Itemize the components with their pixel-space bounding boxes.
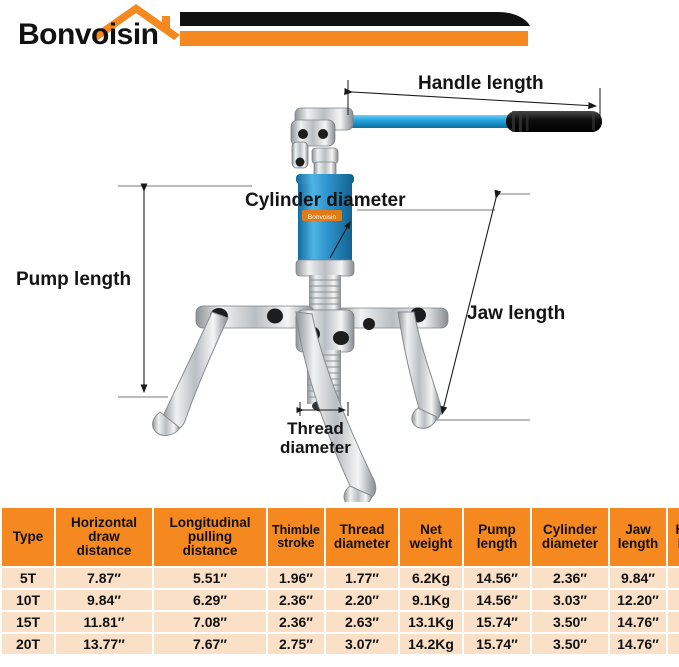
cell-horizontal-draw-distance: 9.84″: [56, 590, 152, 610]
table-row: 15T 11.81″ 7.08″ 2.36″ 2.63″ 13.1Kg 15.7…: [2, 612, 679, 632]
annotation-handle-length: Handle length: [418, 73, 544, 94]
cell-horizontal-draw-distance: 13.77″: [56, 634, 152, 654]
annotation-thread-diameter-line1: Thread: [280, 419, 351, 438]
column-header-net-weight: Net weight: [400, 508, 462, 566]
cell-handle-length: 15.7″: [668, 634, 679, 654]
table-row: 20T 13.77″ 7.67″ 2.75″ 3.07″ 14.2Kg 15.7…: [2, 634, 679, 654]
cell-type: 20T: [2, 634, 54, 654]
cell-handle-length: 15.7″: [668, 568, 679, 588]
header-line1: Net: [420, 522, 442, 537]
annotation-jaw-length: Jaw length: [467, 303, 565, 324]
table-row: 10T 9.84″ 6.29″ 2.36″ 2.20″ 9.1Kg 14.56″…: [2, 590, 679, 610]
column-header-handle-length: Handle length: [668, 508, 679, 566]
cell-thread-diameter: 1.77″: [326, 568, 398, 588]
cell-longitudinal-pulling-distance: 7.08″: [154, 612, 266, 632]
header-line1: Thread: [339, 522, 384, 537]
column-header-pump-length: Pump length: [464, 508, 530, 566]
header-line1: Horizontal: [71, 515, 137, 530]
header-line1: Longitudinal: [170, 515, 251, 530]
cell-jaw-length: 14.76″: [610, 612, 666, 632]
cell-thread-diameter: 2.63″: [326, 612, 398, 632]
cell-pump-length: 14.56″: [464, 568, 530, 588]
header-line1: Pump: [478, 522, 516, 537]
table-row: 5T 7.87″ 5.51″ 1.96″ 1.77″ 6.2Kg 14.56″ …: [2, 568, 679, 588]
cell-thread-diameter: 3.07″: [326, 634, 398, 654]
cell-longitudinal-pulling-distance: 7.67″: [154, 634, 266, 654]
cell-handle-length: 15.7″: [668, 612, 679, 632]
header-line2: length: [477, 536, 518, 551]
cell-longitudinal-pulling-distance: 6.29″: [154, 590, 266, 610]
table-header-row: Type Horizontal draw distance Longitudin…: [2, 508, 679, 566]
column-header-type: Type: [2, 508, 54, 566]
header-line1: Thimble: [272, 523, 320, 537]
header-line3: distance: [77, 543, 132, 558]
cell-horizontal-draw-distance: 11.81″: [56, 612, 152, 632]
product-figure: Bonvoisin: [0, 62, 679, 502]
brand-logo: Bonvoisin: [0, 0, 679, 62]
annotation-thread-diameter-line2: diameter: [280, 438, 351, 457]
cell-thimble-stroke: 1.96″: [268, 568, 324, 588]
cell-thimble-stroke: 2.36″: [268, 612, 324, 632]
header-line2: diameter: [542, 536, 598, 551]
header-line2: pulling: [188, 529, 232, 544]
cell-thimble-stroke: 2.36″: [268, 590, 324, 610]
column-header-jaw-length: Jaw length: [610, 508, 666, 566]
cell-type: 15T: [2, 612, 54, 632]
annotation-cylinder-diameter: Cylinder diameter: [245, 190, 406, 211]
cell-cylinder-diameter: 2.36″: [532, 568, 608, 588]
header-line2: stroke: [277, 536, 315, 550]
annotation-pump-length: Pump length: [16, 269, 131, 290]
cell-net-weight: 13.1Kg: [400, 612, 462, 632]
cell-horizontal-draw-distance: 7.87″: [56, 568, 152, 588]
header-line1: Type: [13, 529, 44, 544]
swoosh-icon: [178, 10, 538, 52]
cell-handle-length: 15.7″: [668, 590, 679, 610]
cell-net-weight: 14.2Kg: [400, 634, 462, 654]
column-header-thimble-stroke: Thimble stroke: [268, 508, 324, 566]
header-line3: distance: [183, 543, 238, 558]
header-line1: Cylinder: [543, 522, 597, 537]
cell-jaw-length: 12.20″: [610, 590, 666, 610]
cell-cylinder-diameter: 3.50″: [532, 612, 608, 632]
header-line1: Jaw: [625, 522, 651, 537]
cell-thimble-stroke: 2.75″: [268, 634, 324, 654]
annotation-thread-diameter: Thread diameter: [280, 419, 351, 457]
brand-name: Bonvoisin: [18, 18, 159, 52]
column-header-horizontal-draw-distance: Horizontal draw distance: [56, 508, 152, 566]
header-line2: draw: [88, 529, 120, 544]
cell-pump-length: 15.74″: [464, 634, 530, 654]
cell-net-weight: 9.1Kg: [400, 590, 462, 610]
column-header-cylinder-diameter: Cylinder diameter: [532, 508, 608, 566]
cell-jaw-length: 14.76″: [610, 634, 666, 654]
cell-cylinder-diameter: 3.50″: [532, 634, 608, 654]
cell-pump-length: 15.74″: [464, 612, 530, 632]
header-line1: Handle: [675, 522, 679, 537]
header-line2: diameter: [334, 536, 390, 551]
cell-jaw-length: 9.84″: [610, 568, 666, 588]
cell-type: 10T: [2, 590, 54, 610]
column-header-longitudinal-pulling-distance: Longitudinal pulling distance: [154, 508, 266, 566]
cell-type: 5T: [2, 568, 54, 588]
cell-thread-diameter: 2.20″: [326, 590, 398, 610]
cell-pump-length: 14.56″: [464, 590, 530, 610]
cell-longitudinal-pulling-distance: 5.51″: [154, 568, 266, 588]
header-line2: length: [618, 536, 659, 551]
svg-text:Bonvoisin: Bonvoisin: [308, 214, 337, 221]
cell-cylinder-diameter: 3.03″: [532, 590, 608, 610]
column-header-thread-diameter: Thread diameter: [326, 508, 398, 566]
cell-net-weight: 6.2Kg: [400, 568, 462, 588]
header-line2: weight: [410, 536, 453, 551]
specification-table: Type Horizontal draw distance Longitudin…: [0, 506, 679, 656]
